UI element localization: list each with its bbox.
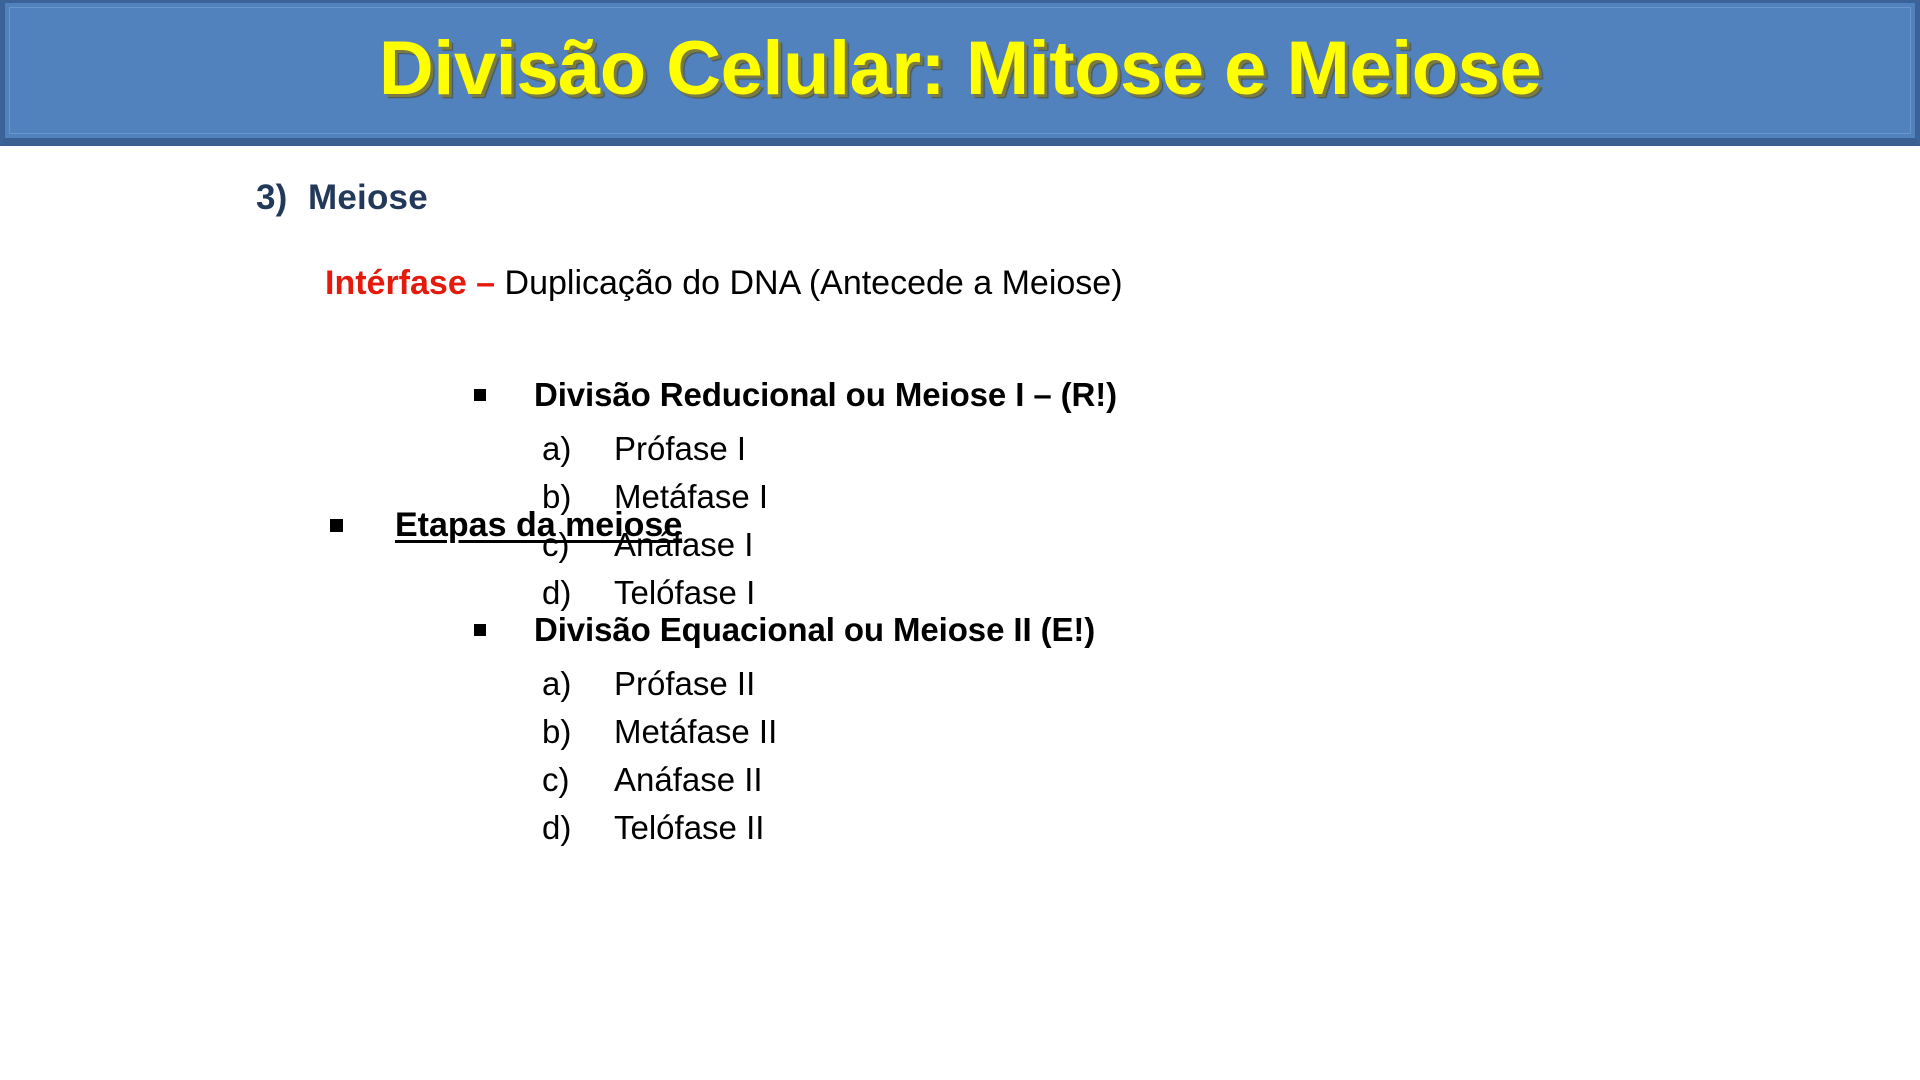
list-item: a) Prófase I <box>474 430 1117 478</box>
list-item: c) Anáfase I <box>474 526 1117 574</box>
section-meiose-ii-title: Divisão Equacional ou Meiose II (E!) <box>534 611 1095 649</box>
list-label: Telófase I <box>614 574 755 612</box>
page-title: Divisão Celular: Mitose e Meiose <box>379 31 1541 107</box>
list-marker: a) <box>542 430 614 468</box>
interfase-line: Intérfase – Duplicação do DNA (Antecede … <box>325 264 1123 303</box>
heading-label: Meiose <box>308 178 428 217</box>
slide: Divisão Celular: Mitose e Meiose 3)Meios… <box>0 0 1920 1080</box>
section-meiose-i-title: Divisão Reducional ou Meiose I – (R!) <box>534 376 1117 414</box>
list-label: Anáfase I <box>614 526 753 564</box>
square-bullet-icon <box>474 389 486 401</box>
list-marker: c) <box>542 761 614 799</box>
section-meiose-ii-header: Divisão Equacional ou Meiose II (E!) <box>474 611 1095 649</box>
slide-body: 3)Meiose Intérfase – Duplicação do DNA (… <box>0 146 1920 1080</box>
list-marker: a) <box>542 665 614 703</box>
list-item: b) Metáfase II <box>474 713 1095 761</box>
list-marker: c) <box>542 526 614 564</box>
interfase-dash: – <box>467 264 505 302</box>
section-meiose-ii: Divisão Equacional ou Meiose II (E!) a) … <box>474 611 1095 857</box>
section-meiose-i-header: Divisão Reducional ou Meiose I – (R!) <box>474 376 1117 414</box>
list-label: Anáfase II <box>614 761 763 799</box>
square-bullet-icon <box>330 519 343 532</box>
meiose-ii-phase-list: a) Prófase II b) Metáfase II c) Anáfase … <box>474 665 1095 857</box>
list-label: Prófase II <box>614 665 755 703</box>
list-marker: b) <box>542 478 614 516</box>
list-item: b) Metáfase I <box>474 478 1117 526</box>
section-meiose-i: Divisão Reducional ou Meiose I – (R!) a)… <box>474 376 1117 622</box>
list-marker: d) <box>542 809 614 847</box>
interfase-keyword: Intérfase <box>325 264 467 302</box>
list-item: c) Anáfase II <box>474 761 1095 809</box>
heading-number: 3) <box>256 178 308 218</box>
list-marker: d) <box>542 574 614 612</box>
interfase-description: Duplicação do DNA (Antecede a Meiose) <box>505 264 1123 302</box>
list-label: Prófase I <box>614 430 746 468</box>
list-label: Telófase II <box>614 809 764 847</box>
meiose-i-phase-list: a) Prófase I b) Metáfase I c) Anáfase I … <box>474 430 1117 622</box>
square-bullet-icon <box>474 624 486 636</box>
title-banner: Divisão Celular: Mitose e Meiose <box>0 0 1920 146</box>
list-item: a) Prófase II <box>474 665 1095 713</box>
list-item: d) Telófase II <box>474 809 1095 857</box>
section-heading-meiose: 3)Meiose <box>256 178 428 218</box>
list-label: Metáfase I <box>614 478 768 516</box>
list-marker: b) <box>542 713 614 751</box>
list-label: Metáfase II <box>614 713 777 751</box>
